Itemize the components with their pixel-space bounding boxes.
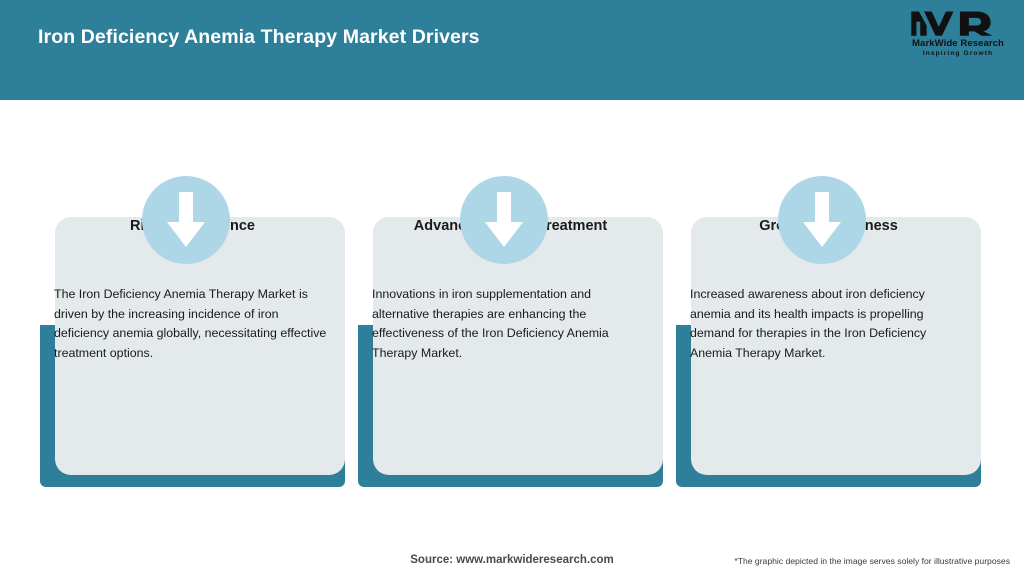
down-arrow-icon [142, 176, 230, 264]
card-body-text: Innovations in iron supplementation and … [372, 285, 649, 364]
logo-company-name: MarkWide Research [912, 38, 1004, 49]
driver-card-3[interactable]: Growing Awareness Increased awareness ab… [676, 140, 981, 546]
down-arrow-glyph [482, 190, 526, 250]
down-arrow-glyph [800, 190, 844, 250]
logo-tagline: Inspiring Growth [923, 49, 993, 58]
drivers-card-row: Rising Prevalence The Iron Deficiency An… [0, 100, 1024, 546]
mwr-logo-icon [910, 8, 1006, 38]
down-arrow-glyph [164, 190, 208, 250]
down-arrow-icon [460, 176, 548, 264]
card-body-text: Increased awareness about iron deficienc… [690, 285, 967, 364]
down-arrow-icon [778, 176, 866, 264]
page-title: Iron Deficiency Anemia Therapy Market Dr… [38, 26, 480, 49]
disclaimer-label: *The graphic depicted in the image serve… [734, 556, 1010, 566]
driver-card-2[interactable]: Advancements in Treatment Innovations in… [358, 140, 663, 546]
brand-logo: MarkWide Research Inspiring Growth [906, 8, 1010, 66]
card-body-text: The Iron Deficiency Anemia Therapy Marke… [54, 285, 331, 364]
driver-card-1[interactable]: Rising Prevalence The Iron Deficiency An… [40, 140, 345, 546]
header-bar: Iron Deficiency Anemia Therapy Market Dr… [0, 0, 1024, 100]
